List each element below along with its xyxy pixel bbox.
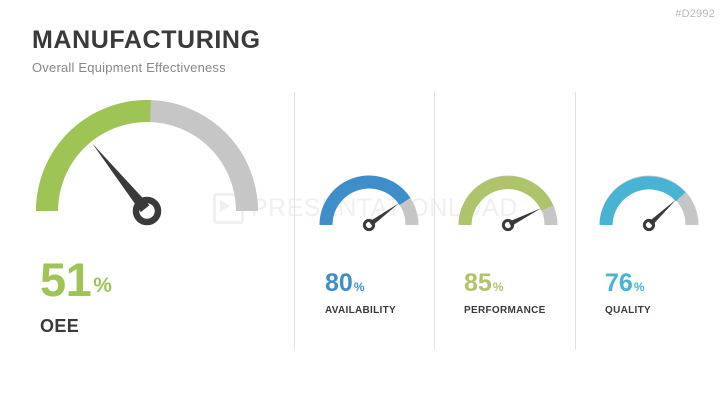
divider-1 xyxy=(294,92,295,350)
performance-label: PERFORMANCE xyxy=(464,305,546,316)
page-title: MANUFACTURING xyxy=(32,26,261,55)
quality-value-suffix: % xyxy=(633,280,645,295)
divider-2 xyxy=(434,92,435,350)
gauge-oee xyxy=(36,100,258,220)
oee-value-number: 51 xyxy=(40,258,91,301)
gauge-performance-hub xyxy=(503,220,512,229)
performance-value-number: 85 xyxy=(464,272,492,295)
document-id: #D2992 xyxy=(675,8,715,20)
gauge-availability xyxy=(319,176,419,230)
oee-label: OEE xyxy=(40,316,79,337)
availability-label: AVAILABILITY xyxy=(325,305,396,316)
performance-value-suffix: % xyxy=(492,280,504,295)
slide: #D2992 MANUFACTURING Overall Equipment E… xyxy=(0,0,727,409)
gauge-availability-hub xyxy=(364,220,373,229)
gauge-quality xyxy=(599,176,699,230)
gauge-quality-value xyxy=(606,183,681,225)
availability-value: 80 % xyxy=(325,272,364,295)
oee-value-suffix: % xyxy=(91,274,112,301)
availability-value-suffix: % xyxy=(353,280,365,295)
gauge-quality-hub xyxy=(644,220,653,229)
quality-value: 76 % xyxy=(605,272,644,295)
quality-value-number: 76 xyxy=(605,272,633,295)
divider-3 xyxy=(575,92,576,350)
gauge-performance-value xyxy=(465,183,547,225)
gauge-performance xyxy=(458,176,558,230)
oee-value: 51 % xyxy=(40,258,112,301)
gauge-availability-value xyxy=(326,182,405,225)
performance-value: 85 % xyxy=(464,272,503,295)
page-subtitle: Overall Equipment Effectiveness xyxy=(32,60,226,75)
availability-value-number: 80 xyxy=(325,272,353,295)
quality-label: QUALITY xyxy=(605,305,651,316)
